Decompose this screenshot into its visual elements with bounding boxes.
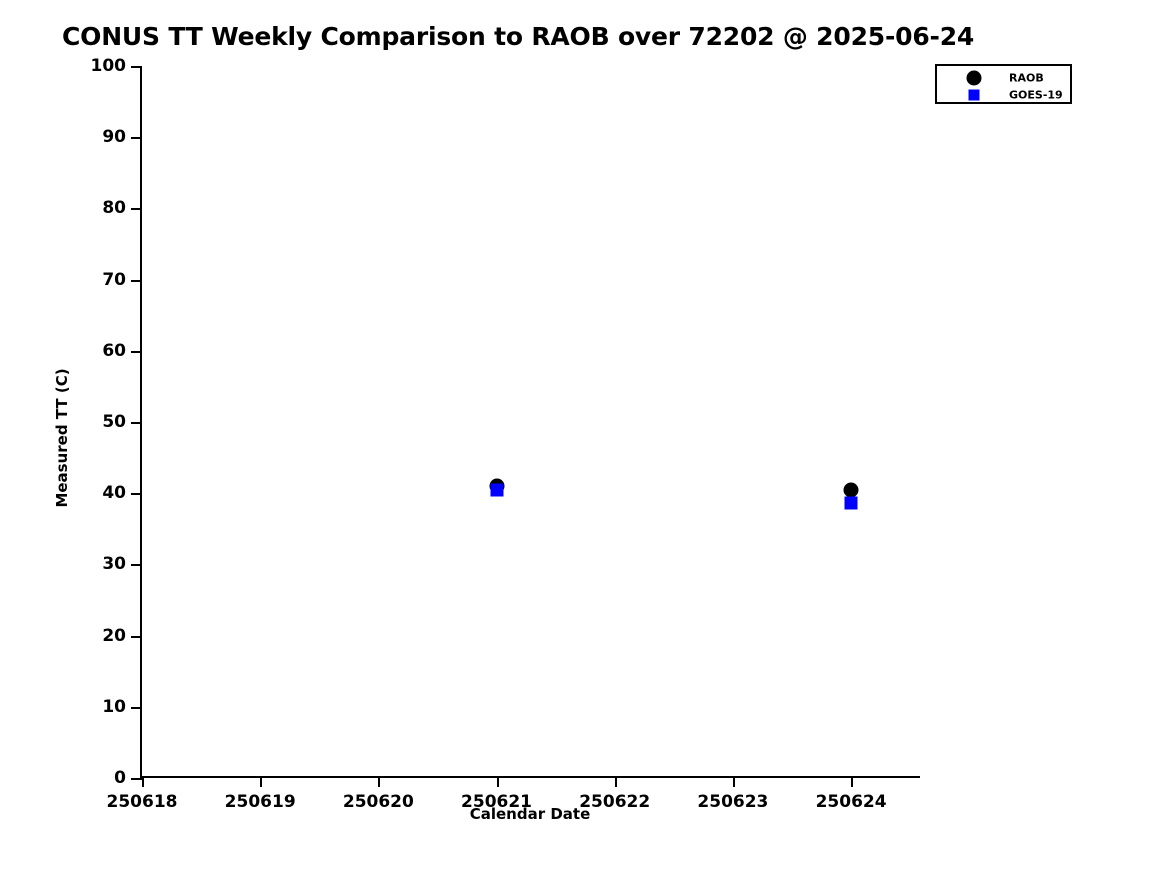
- y-tick-label: 10: [102, 697, 126, 717]
- y-tick-mark: [131, 137, 142, 139]
- chart-canvas: CONUS TT Weekly Comparison to RAOB over …: [0, 0, 1167, 875]
- x-tick-mark: [142, 776, 144, 787]
- legend-label: RAOB: [1009, 72, 1044, 85]
- y-tick-mark: [131, 208, 142, 210]
- y-tick-label: 0: [114, 768, 126, 788]
- x-tick-label: 250622: [579, 792, 650, 812]
- legend-square-icon: [969, 90, 980, 101]
- y-tick-label: 30: [102, 554, 126, 574]
- y-tick-label: 70: [102, 270, 126, 290]
- y-tick-mark: [131, 280, 142, 282]
- x-tick-label: 250619: [225, 792, 296, 812]
- y-tick-mark: [131, 422, 142, 424]
- x-tick-label: 250618: [107, 792, 178, 812]
- x-tick-label: 250624: [816, 792, 887, 812]
- data-point-goes-19: [490, 483, 503, 496]
- x-tick-label: 250620: [343, 792, 414, 812]
- y-tick-label: 20: [102, 626, 126, 646]
- legend-label: GOES-19: [1009, 89, 1063, 102]
- y-tick-mark: [131, 564, 142, 566]
- y-tick-mark: [131, 636, 142, 638]
- y-tick-label: 80: [102, 198, 126, 218]
- y-tick-mark: [131, 778, 142, 780]
- y-tick-mark: [131, 351, 142, 353]
- y-tick-label: 40: [102, 483, 126, 503]
- x-tick-mark: [851, 776, 853, 787]
- legend-item-goes-19[interactable]: GOES-19: [937, 86, 1070, 104]
- data-point-goes-19: [845, 497, 858, 510]
- x-tick-label: 250621: [461, 792, 532, 812]
- x-tick-label: 250623: [697, 792, 768, 812]
- chart-legend: RAOBGOES-19: [935, 64, 1072, 104]
- y-tick-label: 60: [102, 341, 126, 361]
- legend-item-raob[interactable]: RAOB: [937, 69, 1070, 87]
- y-axis-label: Measured TT (C): [53, 368, 71, 507]
- x-tick-mark: [615, 776, 617, 787]
- x-tick-mark: [497, 776, 499, 787]
- x-tick-mark: [260, 776, 262, 787]
- x-tick-mark: [378, 776, 380, 787]
- y-tick-mark: [131, 707, 142, 709]
- y-tick-label: 100: [91, 56, 127, 76]
- plot-area: 0102030405060708090100 25061825061925062…: [140, 66, 920, 778]
- y-tick-label: 90: [102, 127, 126, 147]
- data-point-raob: [844, 483, 859, 498]
- legend-circle-icon: [967, 71, 982, 86]
- x-tick-mark: [733, 776, 735, 787]
- y-tick-mark: [131, 493, 142, 495]
- y-tick-label: 50: [102, 412, 126, 432]
- chart-title: CONUS TT Weekly Comparison to RAOB over …: [62, 22, 974, 51]
- y-tick-mark: [131, 66, 142, 68]
